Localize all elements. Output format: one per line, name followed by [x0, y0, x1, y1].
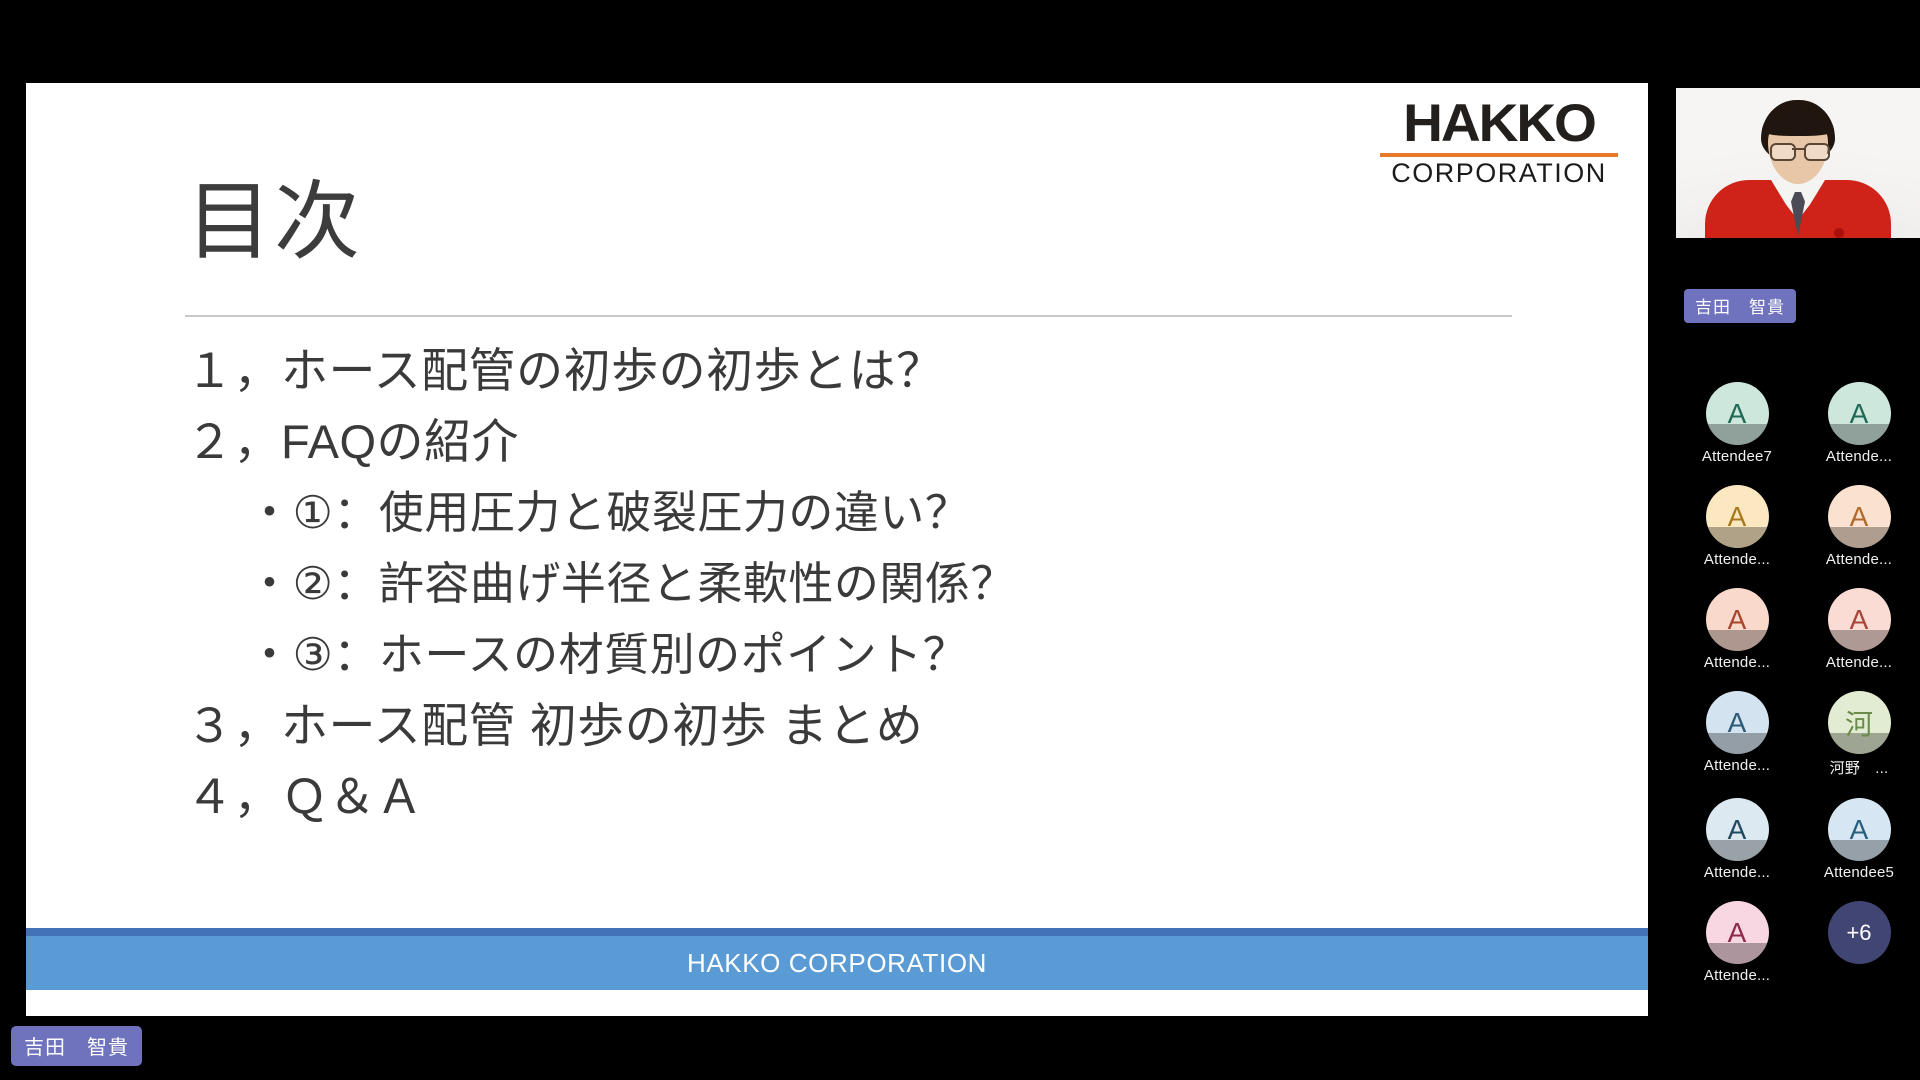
- attendee-name: Attende...: [1704, 967, 1770, 984]
- attendee-name: Attende...: [1704, 551, 1770, 568]
- shared-slide[interactable]: HAKKO CORPORATION 目次 １，ホース配管の初歩の初歩とは？ ２，…: [26, 83, 1648, 1016]
- avatar-initial: A: [1850, 604, 1869, 636]
- avatar-initial: A: [1850, 501, 1869, 533]
- avatar-initial: A: [1728, 398, 1747, 430]
- toc-item: ３，ホース配管 初歩の初歩 まとめ: [186, 690, 1608, 761]
- avatar-initial: 河: [1845, 703, 1873, 743]
- attendee-tile[interactable]: A Attende...: [1798, 588, 1920, 671]
- glasses-bridge-icon: [1792, 148, 1804, 150]
- attendee-tile[interactable]: A Attende...: [1798, 485, 1920, 568]
- attendee-name: Attendee5: [1824, 864, 1894, 881]
- attendee-tile[interactable]: A Attende...: [1676, 798, 1798, 881]
- attendee-name: Attende...: [1704, 654, 1770, 671]
- title-divider: [185, 315, 1512, 317]
- hakko-subtitle: CORPORATION: [1378, 160, 1620, 187]
- avatar: A: [1828, 588, 1891, 651]
- slide-canvas: HAKKO CORPORATION 目次 １，ホース配管の初歩の初歩とは？ ２，…: [26, 83, 1648, 1016]
- attendee-name: Attende...: [1826, 654, 1892, 671]
- attendee-name: Attende...: [1826, 551, 1892, 568]
- avatar: A: [1706, 901, 1769, 964]
- active-speaker-chip: 吉田 智貴: [11, 1026, 142, 1066]
- slide-footer-bar: HAKKO CORPORATION: [26, 928, 1648, 990]
- presenter-lapel-badge: [1834, 228, 1844, 238]
- avatar-initial: A: [1850, 814, 1869, 846]
- avatar: A: [1828, 382, 1891, 445]
- glasses-left-lens-icon: [1770, 143, 1796, 161]
- toc-item: １，ホース配管の初歩の初歩とは？: [186, 335, 1608, 406]
- avatar: A: [1706, 798, 1769, 861]
- attendee-tile[interactable]: A Attendee5: [1798, 798, 1920, 881]
- attendee-name: Attende...: [1704, 757, 1770, 774]
- attendee-name: Attendee7: [1702, 448, 1772, 465]
- logo-accent-rule: [1380, 153, 1618, 157]
- page-title: 目次: [186, 177, 362, 267]
- hakko-wordmark: HAKKO: [1373, 97, 1625, 150]
- toc-item: ２，FAQの紹介: [186, 406, 1608, 477]
- avatar-initial: A: [1728, 604, 1747, 636]
- attendee-tile[interactable]: A Attende...: [1798, 382, 1920, 465]
- avatar-initial: A: [1728, 814, 1747, 846]
- avatar-initial: A: [1728, 707, 1747, 739]
- toc-subitem: ・③：ホースの材質別のポイント？: [186, 619, 1608, 690]
- attendee-name: 河野 ...: [1830, 757, 1889, 778]
- presenter-video-tile[interactable]: [1676, 88, 1920, 238]
- attendee-tile[interactable]: A Attendee7: [1676, 382, 1798, 465]
- toc-subitem: ・①：使用圧力と破裂圧力の違い？: [186, 477, 1608, 548]
- meeting-screen: HAKKO CORPORATION 目次 １，ホース配管の初歩の初歩とは？ ２，…: [0, 0, 1920, 1080]
- avatar: 河: [1828, 691, 1891, 754]
- attendee-tile[interactable]: A Attende...: [1676, 485, 1798, 568]
- toc-item: ４，Ｑ＆Ａ: [186, 761, 1608, 832]
- avatar-initial: A: [1850, 398, 1869, 430]
- attendee-tile[interactable]: A Attende...: [1676, 901, 1798, 984]
- attendee-name: Attende...: [1826, 448, 1892, 465]
- attendee-tile[interactable]: A Attende...: [1676, 691, 1798, 778]
- toc-subitem: ・②：許容曲げ半径と柔軟性の関係？: [186, 548, 1608, 619]
- avatar-initial: A: [1728, 917, 1747, 949]
- avatar: A: [1828, 485, 1891, 548]
- participant-panel: 吉田 智貴 A Attendee7 A Attende... A Attende…: [1676, 0, 1920, 1080]
- attendee-grid: A Attendee7 A Attende... A Attende... A …: [1676, 382, 1920, 984]
- presenter-name-chip: 吉田 智貴: [1684, 289, 1796, 323]
- table-of-contents: １，ホース配管の初歩の初歩とは？ ２，FAQの紹介 ・①：使用圧力と破裂圧力の違…: [186, 335, 1608, 832]
- avatar: A: [1706, 691, 1769, 754]
- overflow-count-badge: +6: [1828, 901, 1891, 964]
- attendee-tile[interactable]: A Attende...: [1676, 588, 1798, 671]
- avatar: A: [1706, 588, 1769, 651]
- attendee-overflow-tile[interactable]: +6: [1798, 901, 1920, 984]
- attendee-name: Attende...: [1704, 864, 1770, 881]
- slide-footer-text: HAKKO CORPORATION: [687, 948, 987, 979]
- hakko-logo: HAKKO CORPORATION: [1378, 97, 1620, 187]
- avatar: A: [1828, 798, 1891, 861]
- avatar: A: [1706, 382, 1769, 445]
- avatar: A: [1706, 485, 1769, 548]
- avatar-initial: A: [1728, 501, 1747, 533]
- attendee-tile[interactable]: 河 河野 ...: [1798, 691, 1920, 778]
- glasses-right-lens-icon: [1804, 143, 1830, 161]
